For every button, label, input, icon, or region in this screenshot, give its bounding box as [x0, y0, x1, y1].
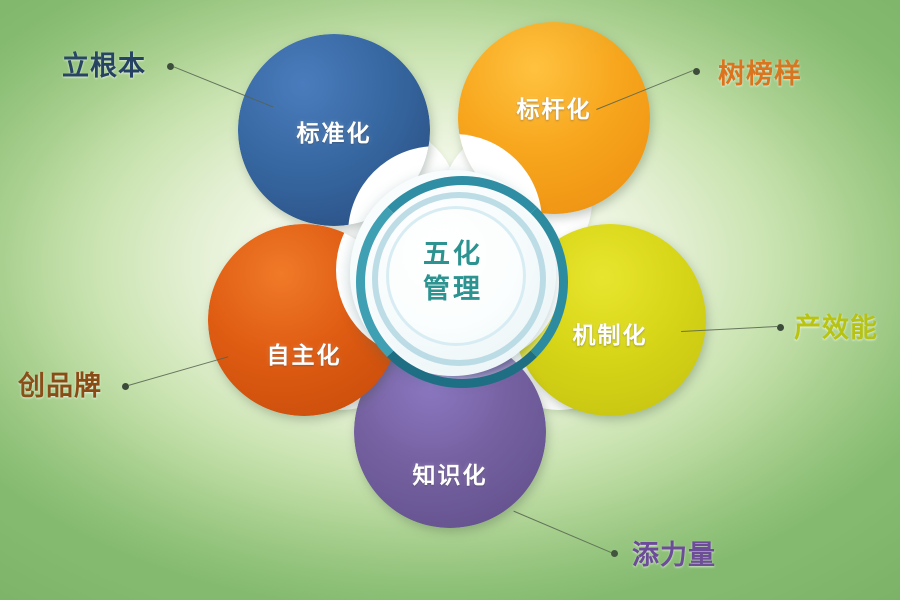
callout-produce-efficiency-label: 产效能: [794, 313, 878, 344]
callout-add-strength-label: 添力量: [632, 540, 716, 571]
callout-dot-produce-efficiency: [777, 324, 784, 331]
hub-text-line-2: 管理: [423, 273, 483, 308]
diagram-canvas: 标准化 标杆化 机制化 知识化: [0, 0, 900, 600]
callout-add-strength[interactable]: 添力量: [632, 533, 716, 572]
callout-build-brand-label: 创品牌: [18, 371, 102, 402]
center-hub[interactable]: 五化 管理: [350, 170, 556, 376]
callout-establish-foundation[interactable]: 立根本: [62, 44, 146, 83]
callout-dot-add-strength: [611, 550, 618, 557]
callout-build-brand[interactable]: 创品牌: [18, 364, 102, 403]
hub-text-line-1: 五化: [423, 238, 483, 273]
petal-benchmarking-label: 标杆化: [458, 90, 650, 124]
callout-dot-set-example: [693, 68, 700, 75]
petal-standardization-label: 标准化: [238, 114, 430, 148]
petal-autonomy-label: 自主化: [208, 336, 400, 370]
callout-set-example[interactable]: 树榜样: [718, 52, 802, 91]
hub-text: 五化 管理: [423, 238, 483, 307]
callout-set-example-label: 树榜样: [718, 59, 802, 90]
callout-produce-efficiency[interactable]: 产效能: [794, 306, 878, 345]
callout-establish-foundation-label: 立根本: [62, 51, 146, 82]
petal-knowledge-label: 知识化: [354, 456, 546, 490]
